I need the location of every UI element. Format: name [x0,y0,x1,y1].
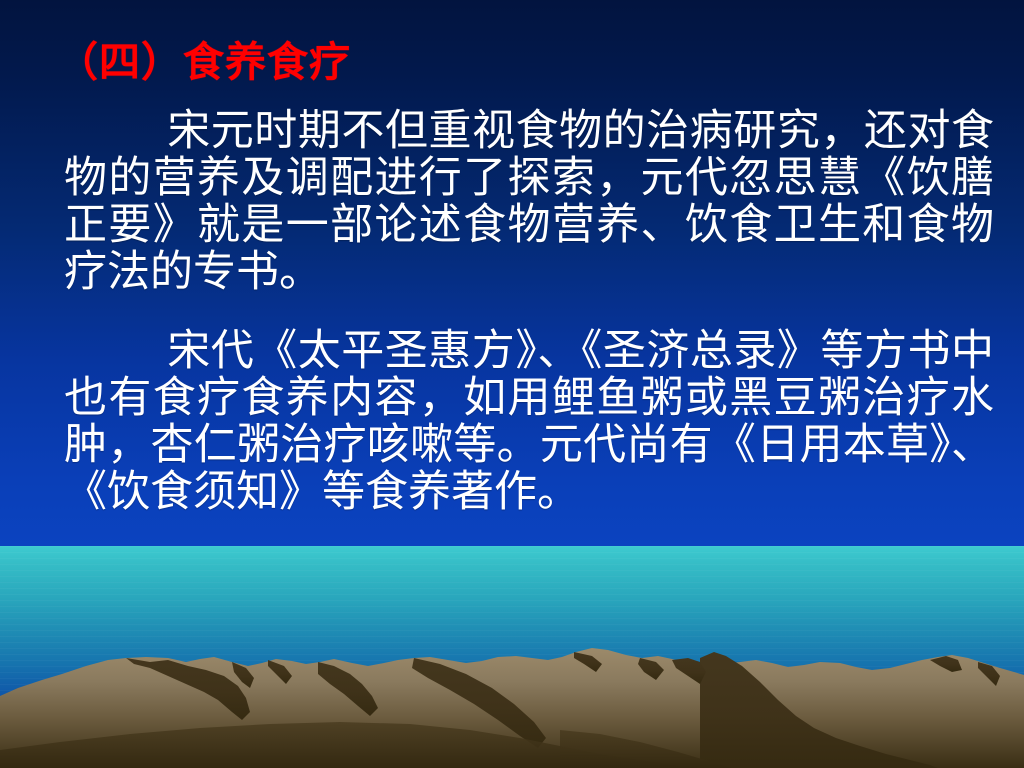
mountain-landscape-graphic [0,600,1024,768]
body-paragraph-2: 宋代《太平圣惠方》、《圣济总录》等方书中也有食疗食养内容，如用鲤鱼粥或黑豆粥治疗… [64,328,994,516]
slide-title: （四）食养食疗 [57,40,351,86]
presentation-slide: （四）食养食疗 宋元时期不但重视食物的治病研究，还对食物的营养及调配进行了探索，… [0,0,1024,768]
slide-body: 宋元时期不但重视食物的治病研究，还对食物的营养及调配进行了探索，元代忽思慧《饮膳… [64,108,994,516]
body-paragraph-1: 宋元时期不但重视食物的治病研究，还对食物的营养及调配进行了探索，元代忽思慧《饮膳… [64,108,994,296]
